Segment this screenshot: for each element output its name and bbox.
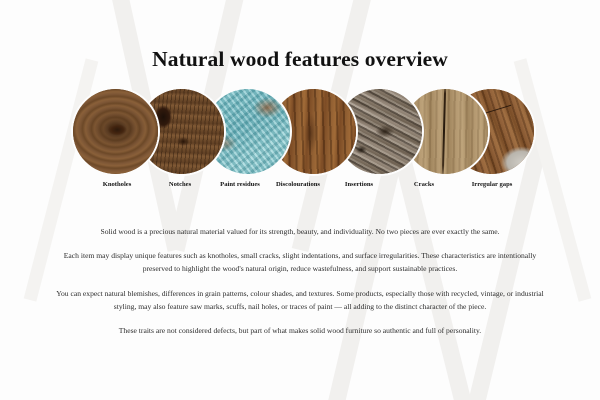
page-title: Natural wood features overview — [0, 47, 600, 72]
feature-circle-knotholes — [71, 87, 160, 176]
feature-label-row: Knotholes Notches Paint residues Discolo… — [0, 181, 600, 193]
feature-label-cracks: Cracks — [414, 181, 434, 188]
feature-label-notches: Notches — [169, 181, 191, 188]
feature-label-knotholes: Knotholes — [103, 181, 132, 188]
document-page: Natural wood features overview Knotholes… — [0, 0, 600, 400]
body-paragraph-3: You can expect natural blemishes, differ… — [48, 287, 552, 313]
feature-label-paint-residues: Paint residues — [220, 181, 260, 188]
feature-label-discolourations: Discolourations — [276, 181, 320, 188]
feature-label-insertions: Insertions — [345, 181, 373, 188]
body-paragraph-1: Solid wood is a precious natural materia… — [48, 225, 552, 238]
body-paragraph-2: Each item may display unique features su… — [48, 249, 552, 275]
wood-knothole-circle-icon — [71, 87, 160, 176]
feature-label-irregular-gaps: Irregular gaps — [472, 181, 513, 188]
body-paragraph-4: These traits are not considered defects,… — [48, 324, 552, 337]
feature-circle-strip — [0, 87, 600, 179]
body-copy: Solid wood is a precious natural materia… — [48, 225, 552, 337]
